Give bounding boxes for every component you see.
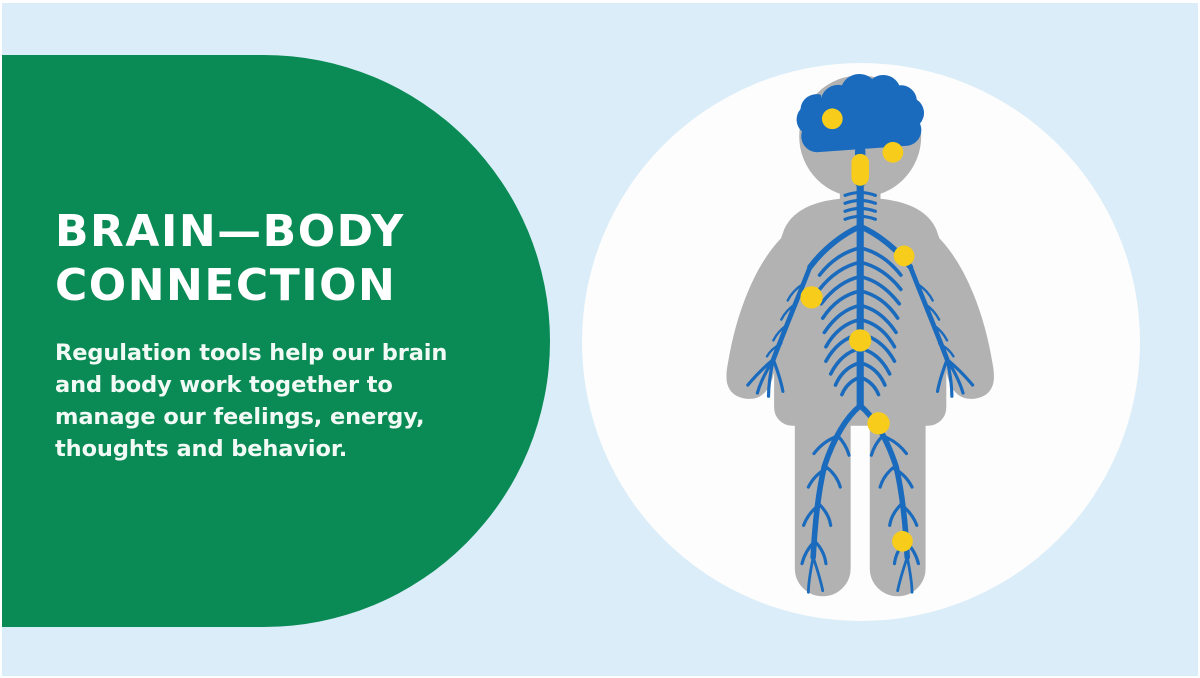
node-right-shoulder <box>894 246 915 267</box>
node-right-shin <box>892 531 913 552</box>
green-text-panel: BRAIN—BODY CONNECTION Regulation tools h… <box>2 55 550 627</box>
node-solar-plexus <box>849 329 871 351</box>
slide-root: BRAIN—BODY CONNECTION Regulation tools h… <box>0 0 1200 678</box>
slide-canvas: BRAIN—BODY CONNECTION Regulation tools h… <box>2 3 1198 676</box>
panel-description: Regulation tools help our brain and body… <box>55 338 455 466</box>
page-title: BRAIN—BODY CONNECTION <box>55 205 455 312</box>
node-brainstem <box>851 154 869 186</box>
brain <box>797 74 924 152</box>
node-left-shoulder <box>800 286 822 308</box>
node-brain-left <box>822 108 843 129</box>
panel-text-block: BRAIN—BODY CONNECTION Regulation tools h… <box>55 205 455 466</box>
node-brain-right <box>883 142 904 163</box>
illustration-stage <box>582 63 1140 621</box>
nervous-system-figure <box>582 63 1140 621</box>
node-pelvis <box>867 412 889 434</box>
